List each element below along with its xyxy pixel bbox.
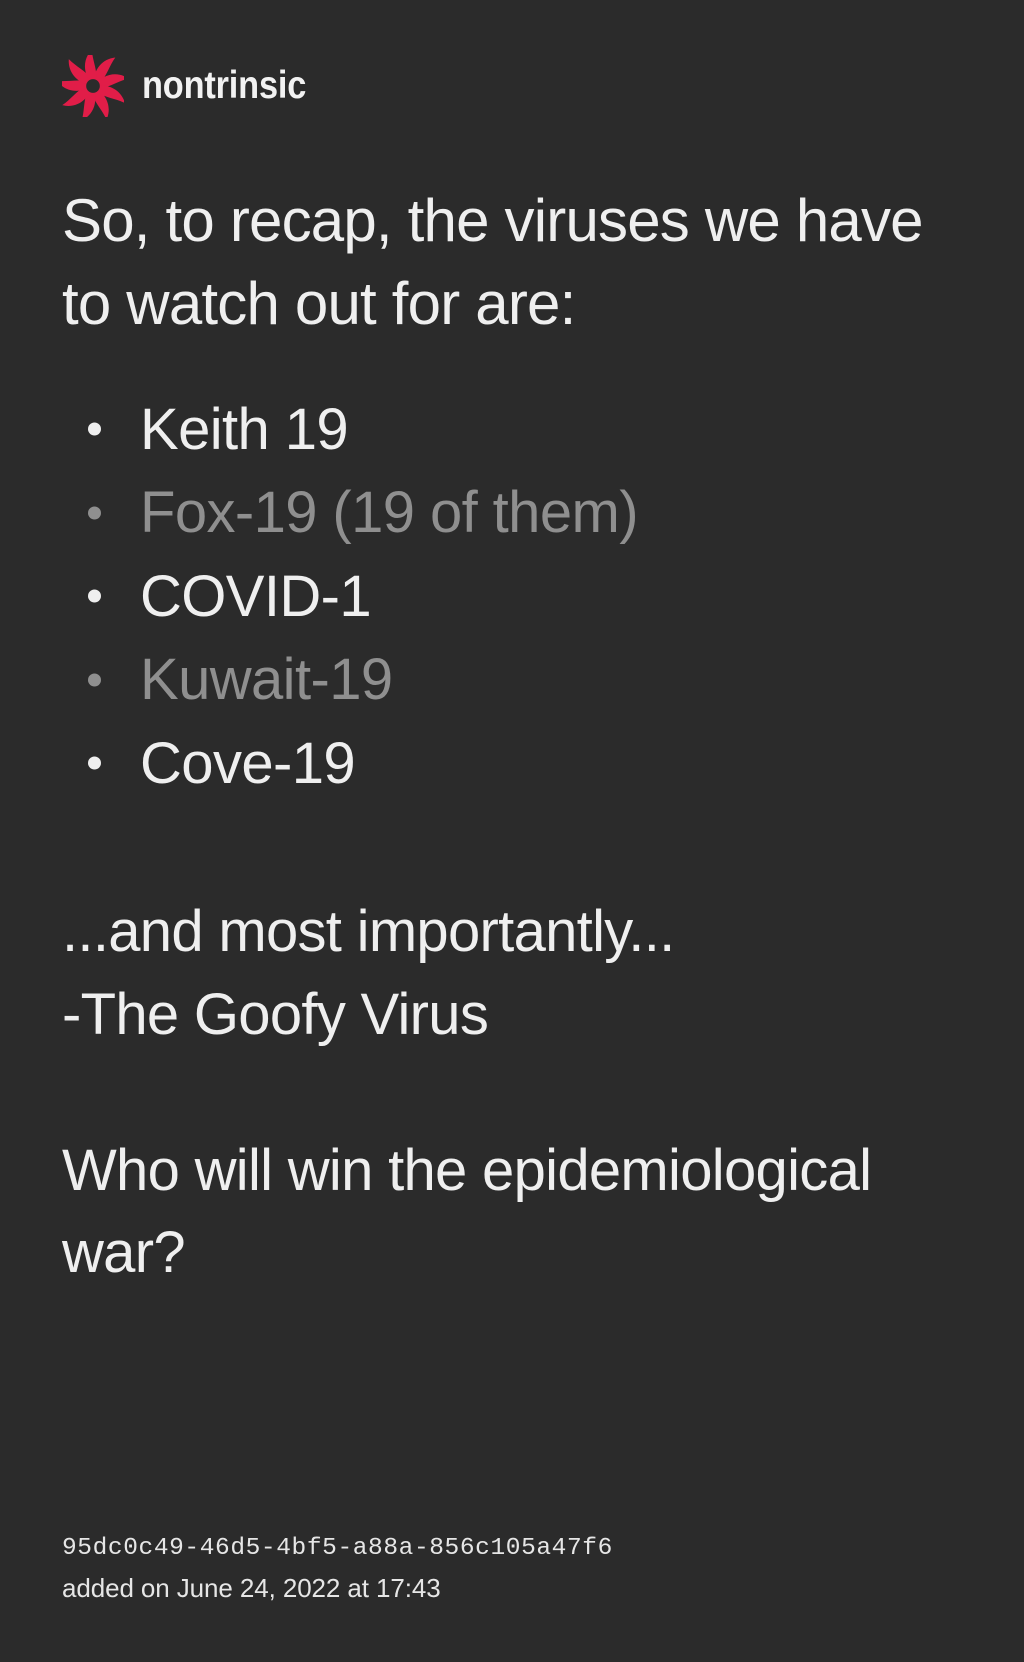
brand-header[interactable]: nontrinsic: [62, 46, 964, 126]
closing-question: Who will win the epidemiological war?: [62, 1130, 942, 1295]
emphasis-line: ...and most importantly...: [62, 891, 942, 973]
virus-list: Keith 19 Fox-19 (19 of them) COVID-1 Kuw…: [62, 388, 964, 806]
post-id: 95dc0c49-46d5-4bf5-a88a-856c105a47f6: [62, 1530, 964, 1568]
spacer: [62, 805, 964, 891]
post-headline: So, to recap, the viruses we have to wat…: [62, 180, 942, 346]
punchline: -The Goofy Virus: [62, 974, 942, 1056]
list-item: COVID-1: [62, 555, 964, 639]
spacer: [62, 1056, 964, 1130]
list-item: Keith 19: [62, 388, 964, 472]
list-item: Fox-19 (19 of them): [62, 471, 964, 555]
list-item: Cove-19: [62, 722, 964, 806]
list-item: Kuwait-19: [62, 638, 964, 722]
spiral-swirl-icon: [62, 55, 124, 117]
post-footer: 95dc0c49-46d5-4bf5-a88a-856c105a47f6 add…: [62, 1530, 964, 1662]
post-card: nontrinsic So, to recap, the viruses we …: [0, 0, 1024, 1662]
post-body: So, to recap, the viruses we have to wat…: [62, 180, 964, 1530]
post-timestamp: added on June 24, 2022 at 17:43: [62, 1568, 964, 1610]
brand-wordmark: nontrinsic: [142, 64, 306, 108]
